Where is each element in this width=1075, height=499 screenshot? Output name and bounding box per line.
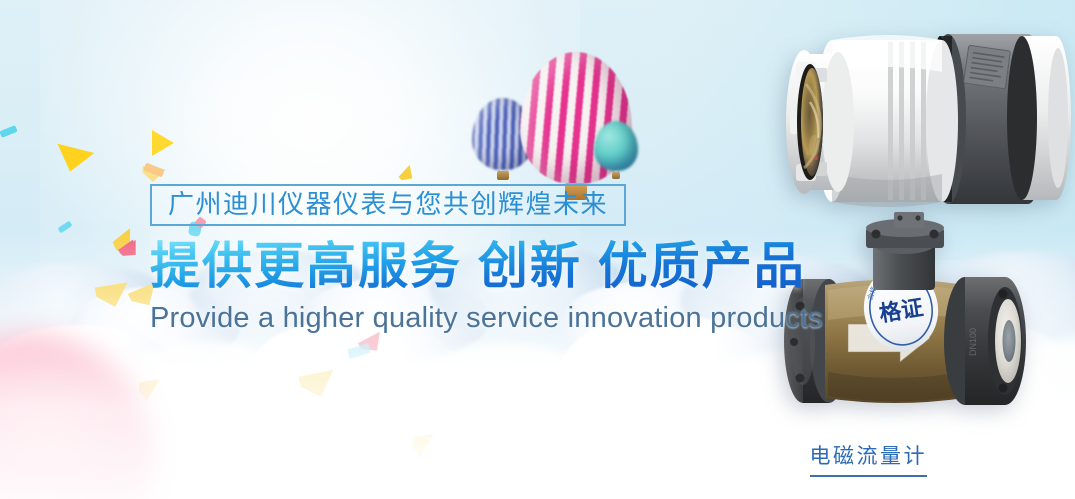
product-caption-text: 电磁流量计 <box>810 440 928 470</box>
display-bezel <box>786 50 854 194</box>
balloon-basket <box>497 171 509 180</box>
right-flange: DN100 <box>944 277 1026 405</box>
product-caption-underline <box>810 475 928 477</box>
headline-text: 提供更高服务 创新 优质产品 <box>150 239 823 293</box>
nameplate <box>964 45 1011 88</box>
tagline-text: 广州迪川仪器仪表与您共创辉煌未来 <box>168 191 608 217</box>
product-caption: 电磁流量计 <box>810 440 928 477</box>
rear-end-cap <box>1007 36 1071 200</box>
svg-text:DN100: DN100 <box>968 328 978 356</box>
hero-copy: 广州迪川仪器仪表与您共创辉煌未来 提供更高服务 创新 优质产品 Provide … <box>150 184 823 335</box>
hero-banner: 格证 合格 DN100 <box>0 0 1075 499</box>
tagline-box: 广州迪川仪器仪表与您共创辉煌未来 <box>150 184 626 226</box>
small-teal-balloon <box>594 121 638 171</box>
balloon-basket <box>612 172 620 179</box>
balloon-envelope <box>594 121 638 171</box>
flowmeter-transmitter-head <box>786 34 1071 207</box>
mounting-neck <box>866 212 944 290</box>
confetti-triangle-yellow <box>152 130 174 156</box>
subline-text: Provide a higher quality service innovat… <box>150 302 823 335</box>
